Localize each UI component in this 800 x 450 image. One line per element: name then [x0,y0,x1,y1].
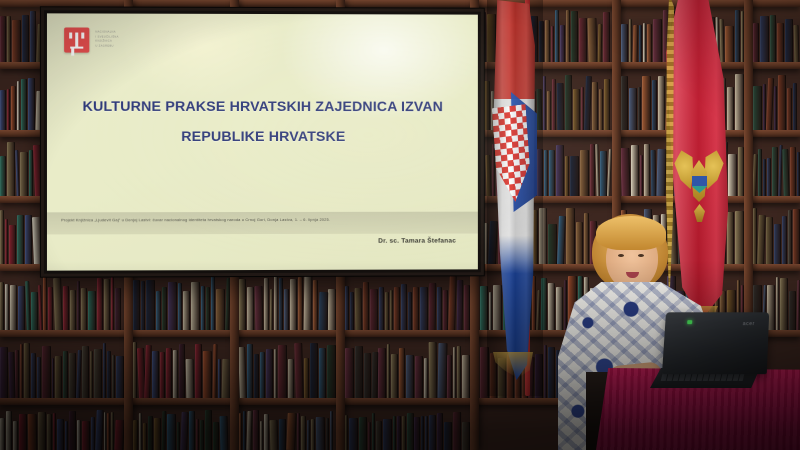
slide-title-line-1: KULTURNE PRAKSE HRVATSKIH ZAJEDNICA IZVA… [57,92,468,122]
book-row [0,406,124,450]
book-row [239,406,336,450]
book-row [239,272,336,330]
book-row [345,272,470,330]
slide-title-line-2: REPUBLIKE HRVATSKE [57,122,468,152]
book-row [753,138,800,196]
logo-bar [70,46,83,49]
institution-line-2: I SVEUČILIŠNA [95,35,118,38]
projection-screen[interactable]: NACIONALNA I SVEUČILIŠNA KNJIŽNICA U ZAG… [41,7,484,276]
slide-presenter-name: Dr. sc. Tamara Štefanac [378,238,456,245]
book-row [345,338,470,398]
book-row [753,70,800,130]
slide-title: KULTURNE PRAKSE HRVATSKIH ZAJEDNICA IZVA… [57,92,468,152]
book-row [133,406,230,450]
book-row [0,272,124,330]
slide-logo: NACIONALNA I SVEUČILIŠNA KNJIŽNICA U ZAG… [64,27,119,52]
eye-left [618,254,624,257]
book-row [345,406,470,450]
laptop[interactable]: acer [650,312,768,390]
presentation-photo-scene: NACIONALNA I SVEUČILIŠNA KNJIŽNICA U ZAG… [0,0,800,450]
book-row [753,204,800,264]
institution-line-3: KNJIŽNICA [95,40,118,43]
book-row [0,338,124,398]
laptop-brand-label: acer [743,321,755,327]
nsk-logo-icon [64,27,89,52]
power-led-icon [687,320,692,324]
laptop-lid: acer [662,312,769,374]
book-row [133,272,230,330]
croatian-flag [487,0,543,396]
slide-footer-note: Projekt Knjižnica „Ljudevit Gaj" u Donjo… [61,217,470,224]
hair-fringe [596,216,666,250]
institution-name: NACIONALNA I SVEUČILIŠNA KNJIŽNICA U ZAG… [95,28,118,48]
book-row [753,6,800,62]
presentation-slide: NACIONALNA I SVEUČILIŠNA KNJIŽNICA U ZAG… [47,13,478,270]
book-row [133,338,230,398]
eye-right [638,254,644,257]
institution-line-1: NACIONALNA [95,31,118,34]
book-row [239,338,336,398]
double-headed-eagle-icon [676,146,722,224]
institution-line-4: U ZAGREBU [95,45,118,48]
